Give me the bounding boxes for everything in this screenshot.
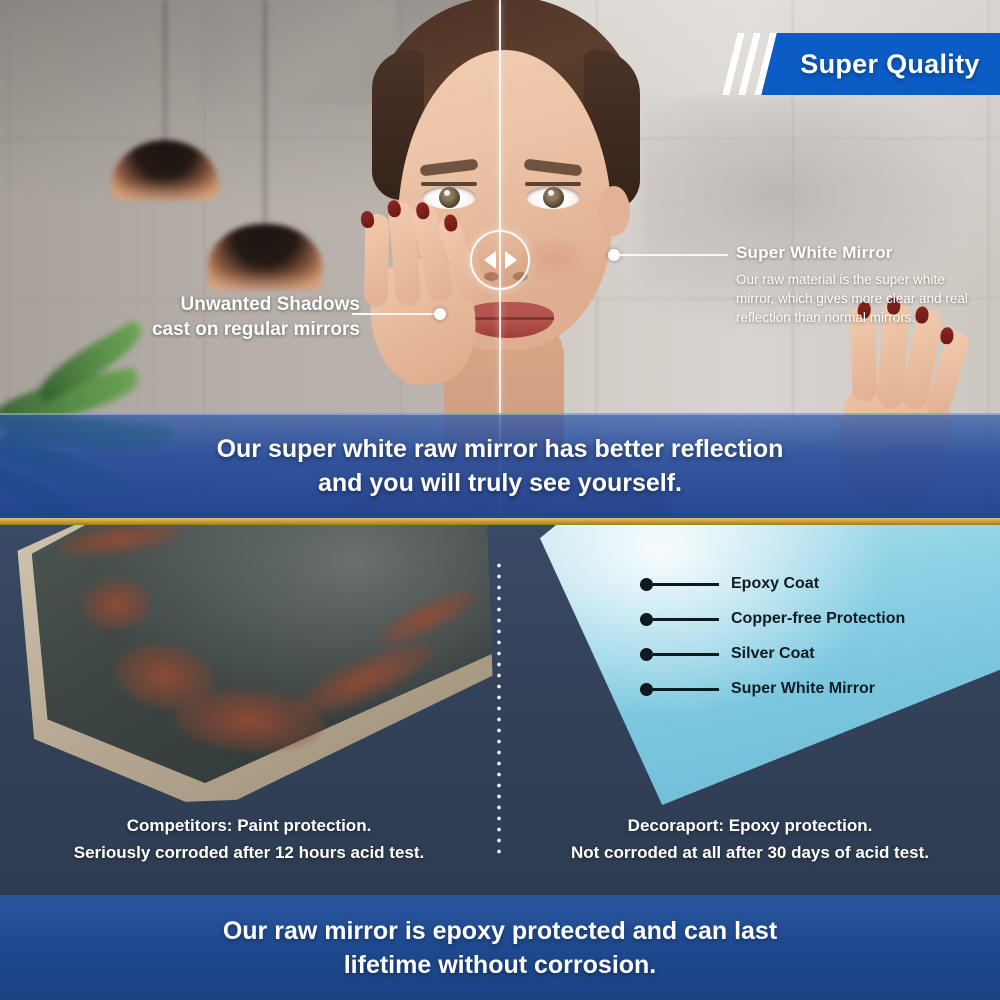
epoxy-mirror-surface xyxy=(540,525,1000,805)
model-hand-left xyxy=(345,192,500,398)
caption-right-line2: Not corroded at all after 30 days of aci… xyxy=(500,839,1000,866)
layer-callout-row: Epoxy Coat xyxy=(640,575,819,593)
callout-right-leader-line xyxy=(620,254,728,256)
layer-callout-row: Silver Coat xyxy=(640,645,815,663)
callout-right-dot xyxy=(608,249,620,261)
layer-callout-row: Copper-free Protection xyxy=(640,610,905,628)
layer-dot-icon xyxy=(640,613,653,626)
layer-leader-line xyxy=(653,653,719,656)
left-triangle-icon xyxy=(484,251,496,269)
callout-right-title: Super White Mirror xyxy=(736,243,986,263)
layer-leader-line xyxy=(653,618,719,621)
callout-left-line1: Unwanted Shadows xyxy=(60,292,360,317)
badge-label: Super Quality xyxy=(722,33,1000,95)
caption-left-line2: Seriously corroded after 12 hours acid t… xyxy=(0,839,498,866)
layer-label: Super White Mirror xyxy=(731,680,875,698)
epoxy-mirror-photo xyxy=(540,525,1000,815)
callout-right-body: Our raw material is the super white mirr… xyxy=(736,270,986,327)
layer-dot-icon xyxy=(640,683,653,696)
callout-left-dot xyxy=(434,308,446,320)
right-triangle-icon xyxy=(505,251,517,269)
callout-unwanted-shadows: Unwanted Shadows cast on regular mirrors xyxy=(60,292,360,342)
comparison-caption-right: Decoraport: Epoxy protection. Not corrod… xyxy=(500,812,1000,866)
layer-callout-row: Super White Mirror xyxy=(640,680,875,698)
banner-bottom: Our raw mirror is epoxy protected and ca… xyxy=(0,895,1000,1000)
gold-divider-rule xyxy=(0,518,1000,525)
comparison-caption-left: Competitors: Paint protection. Seriously… xyxy=(0,812,498,866)
model-iris xyxy=(543,187,564,208)
model-eye xyxy=(526,186,580,209)
layer-leader-line xyxy=(653,688,719,691)
layer-label: Epoxy Coat xyxy=(731,575,819,593)
layer-label: Silver Coat xyxy=(731,645,815,663)
callout-left-leader-line xyxy=(352,313,440,315)
infographic-page: Unwanted Shadows cast on regular mirrors… xyxy=(0,0,1000,1000)
banner-middle-line2: and you will truly see yourself. xyxy=(318,466,682,500)
corroded-mirror-photo xyxy=(16,525,497,822)
model-eyelash xyxy=(525,182,581,186)
model-eyelash xyxy=(421,182,477,186)
layer-leader-line xyxy=(653,583,719,586)
layer-dot-icon xyxy=(640,578,653,591)
caption-left-line1: Competitors: Paint protection. xyxy=(0,812,498,839)
model-ear xyxy=(598,186,630,236)
banner-middle: Our super white raw mirror has better re… xyxy=(0,413,1000,518)
caption-right-line1: Decoraport: Epoxy protection. xyxy=(500,812,1000,839)
layer-label: Copper-free Protection xyxy=(731,610,905,628)
callout-super-white-mirror: Super White Mirror Our raw material is t… xyxy=(736,243,986,327)
banner-bottom-line2: lifetime without corrosion. xyxy=(344,948,657,982)
layer-dot-icon xyxy=(640,648,653,661)
banner-bottom-line1: Our raw mirror is epoxy protected and ca… xyxy=(223,914,777,948)
lamp-shade xyxy=(111,140,219,200)
callout-left-line2: cast on regular mirrors xyxy=(60,317,360,342)
before-after-slider-handle[interactable] xyxy=(470,230,530,290)
banner-middle-line1: Our super white raw mirror has better re… xyxy=(217,432,784,466)
